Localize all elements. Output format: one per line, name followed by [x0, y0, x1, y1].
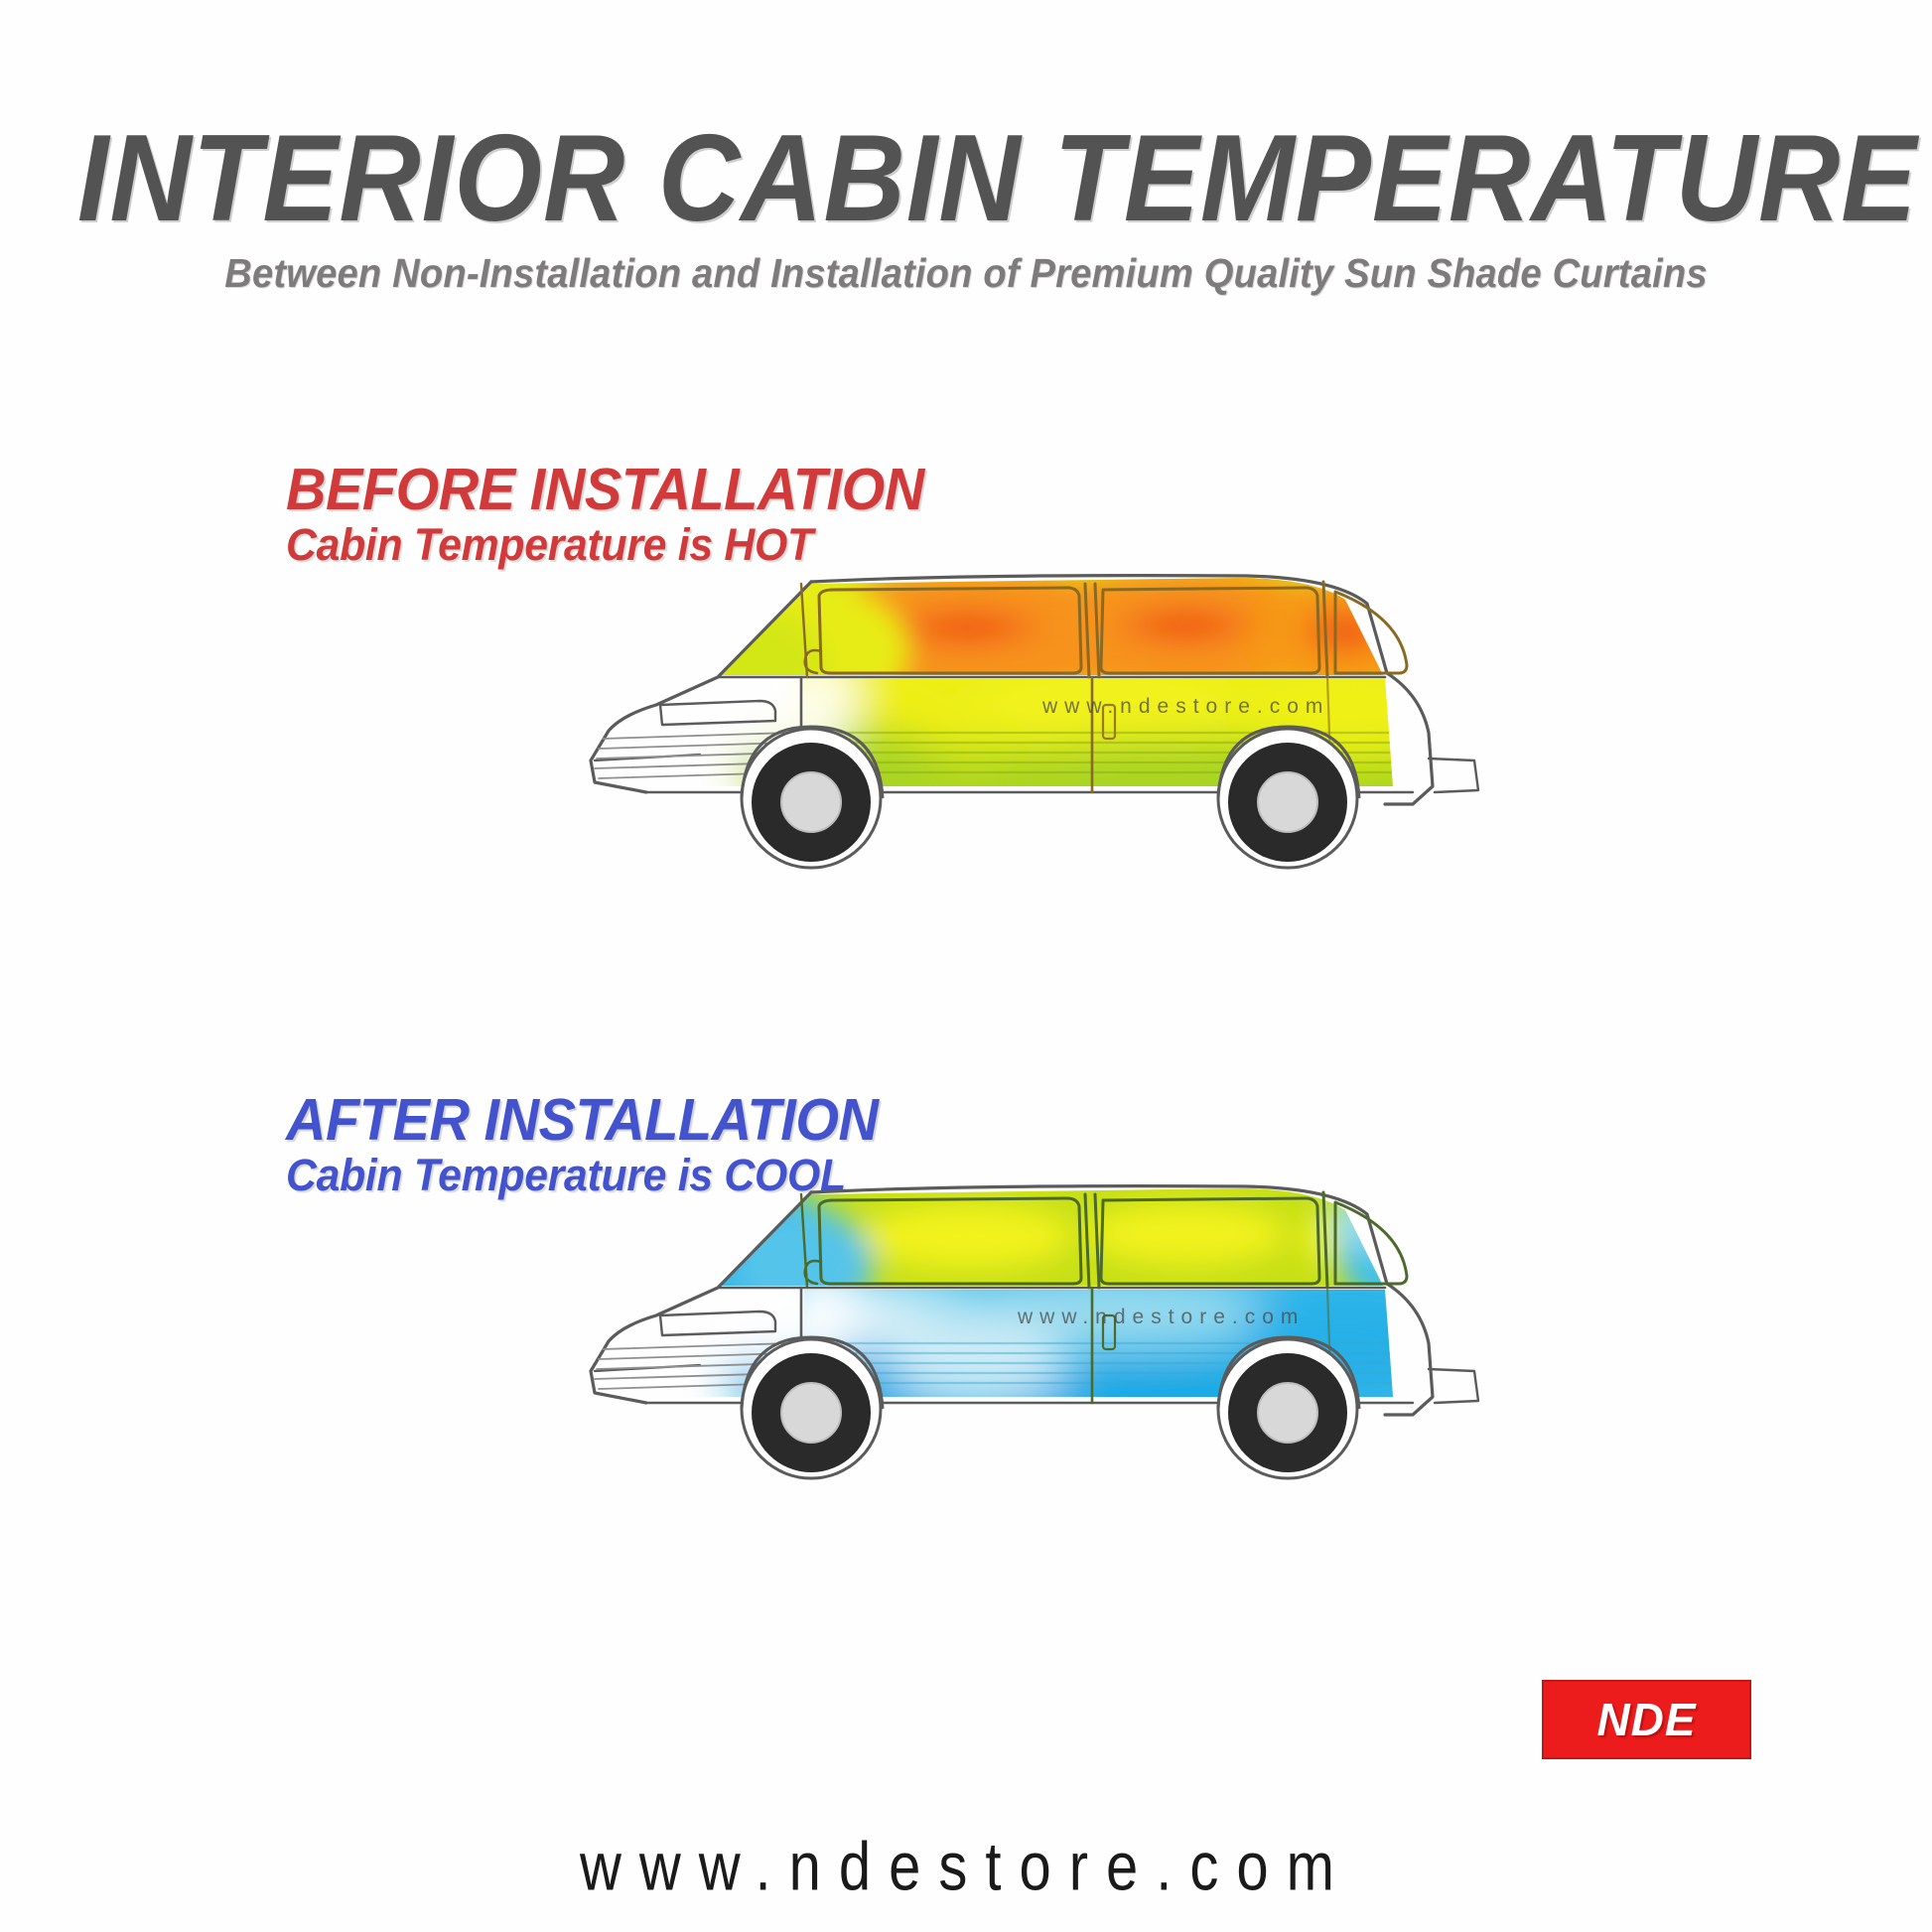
footer: www.ndestore.com	[0, 1834, 1932, 1900]
page-title: INTERIOR CABIN TEMPERATURE	[77, 117, 1855, 240]
footer-url: www.ndestore.com	[580, 1828, 1352, 1906]
van-diagram-cool	[551, 1167, 1623, 1504]
front-wheel	[742, 729, 881, 868]
header: INTERIOR CABIN TEMPERATURE Between Non-I…	[0, 117, 1932, 297]
van-heatmap-after: www.ndestore.com	[551, 1167, 1623, 1504]
rear-wheel	[1218, 1339, 1357, 1478]
van-heatmap-before: www.ndestore.com	[551, 556, 1623, 894]
front-wheel	[742, 1339, 881, 1478]
before-installation-heading: BEFORE INSTALLATION	[286, 460, 924, 519]
infographic-page: INTERIOR CABIN TEMPERATURE Between Non-I…	[0, 0, 1932, 1932]
nde-logo-badge: NDE	[1542, 1680, 1751, 1759]
section-label-before: BEFORE INSTALLATION Cabin Temperature is…	[286, 460, 958, 568]
nde-logo-text: NDE	[1596, 1693, 1696, 1746]
page-subtitle: Between Non-Installation and Installatio…	[68, 250, 1864, 297]
van-diagram-hot	[551, 556, 1623, 894]
after-installation-heading: AFTER INSTALLATION	[286, 1090, 879, 1150]
rear-wheel	[1218, 729, 1357, 868]
